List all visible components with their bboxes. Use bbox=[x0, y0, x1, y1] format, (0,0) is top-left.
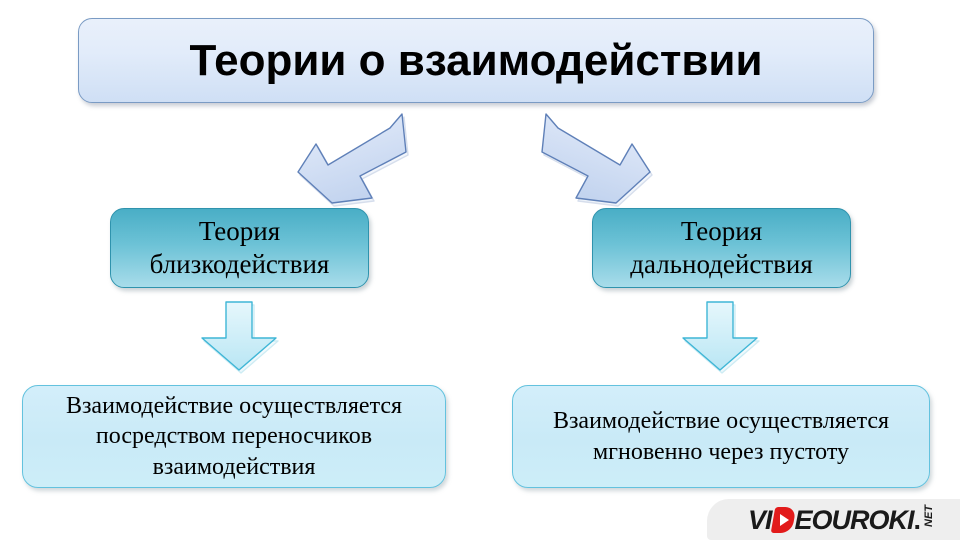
page-title: Теории о взаимодействии bbox=[189, 36, 762, 86]
logo-suffix-net: NET bbox=[923, 505, 935, 527]
bent-arrow-down-left-icon bbox=[288, 108, 408, 208]
logo-dot: . bbox=[914, 505, 922, 536]
logo-text-after: EOUROKI bbox=[795, 505, 914, 536]
videouroki-logo: VI EOUROKI . NET bbox=[748, 505, 940, 535]
description-line: взаимодействия bbox=[153, 452, 316, 482]
down-arrow-left-icon bbox=[196, 300, 282, 372]
slide-title-box: Теории о взаимодействии bbox=[78, 18, 874, 103]
theory-box-short-range: Теория близкодействия bbox=[110, 208, 369, 288]
theory-box-long-range-line1: Теория bbox=[681, 215, 762, 248]
theory-box-short-range-line1: Теория bbox=[199, 215, 280, 248]
bent-arrow-down-right-icon bbox=[540, 108, 660, 208]
description-box-long-range: Взаимодействие осуществляется мгновенно … bbox=[512, 385, 930, 488]
description-line: Взаимодействие осуществляется bbox=[553, 406, 889, 436]
description-box-short-range: Взаимодействие осуществляется посредство… bbox=[22, 385, 446, 488]
logo-play-d-icon bbox=[773, 507, 794, 533]
logo-text-before: VI bbox=[748, 505, 772, 536]
description-line: Взаимодействие осуществляется bbox=[66, 391, 402, 421]
description-line: посредством переносчиков bbox=[96, 421, 372, 451]
play-triangle-icon bbox=[780, 514, 789, 526]
theory-box-long-range: Теория дальнодействия bbox=[592, 208, 851, 288]
theory-box-short-range-line2: близкодействия bbox=[150, 248, 330, 281]
description-line: мгновенно через пустоту bbox=[593, 437, 849, 467]
theory-box-long-range-line2: дальнодействия bbox=[630, 248, 813, 281]
down-arrow-right-icon bbox=[677, 300, 763, 372]
